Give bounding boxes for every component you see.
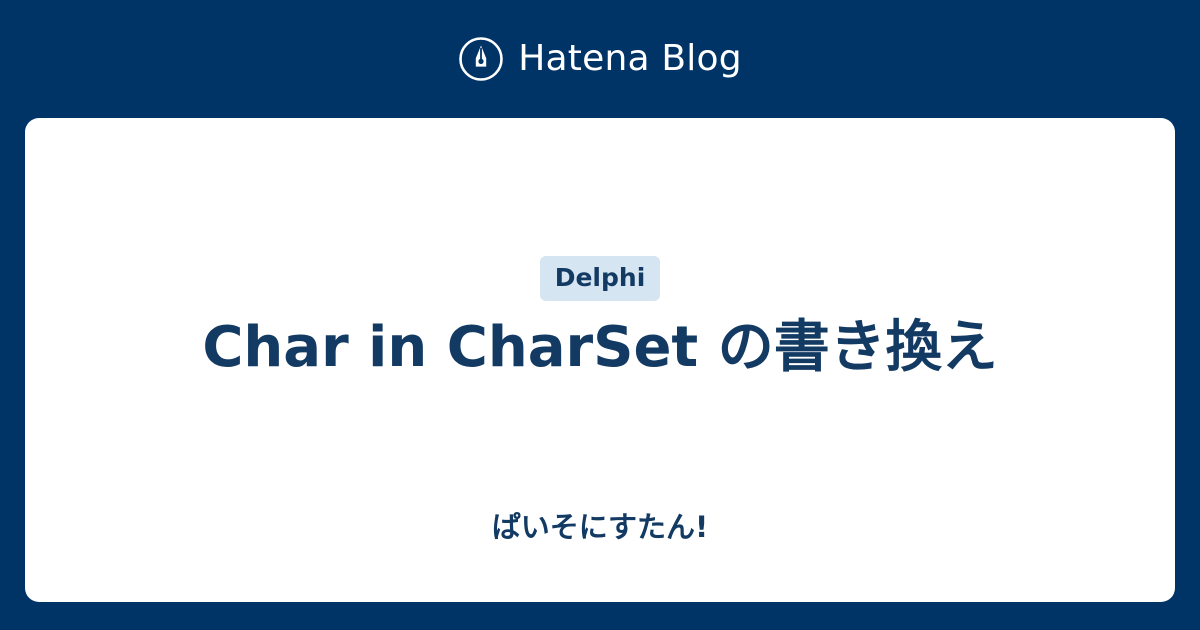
entry-card: Delphi Char in CharSet の書き換え ぱいそにすたん! xyxy=(25,118,1175,602)
brand-name: Hatena Blog xyxy=(518,41,742,77)
blog-name: ぱいそにすたん! xyxy=(492,510,709,545)
hatena-blog-logo xyxy=(458,36,504,82)
hatena-pen-nib-icon xyxy=(458,36,504,82)
brand-header: Hatena Blog xyxy=(0,0,1200,118)
og-image-canvas: Hatena Blog Delphi Char in CharSet の書き換え… xyxy=(0,0,1200,630)
blog-name-row: ぱいそにすたん! xyxy=(25,510,1175,545)
entry-title: Char in CharSet の書き換え xyxy=(202,314,997,382)
category-row: Delphi xyxy=(25,256,1175,301)
category-tag-delphi[interactable]: Delphi xyxy=(540,256,661,301)
entry-title-row: Char in CharSet の書き換え xyxy=(25,314,1175,382)
